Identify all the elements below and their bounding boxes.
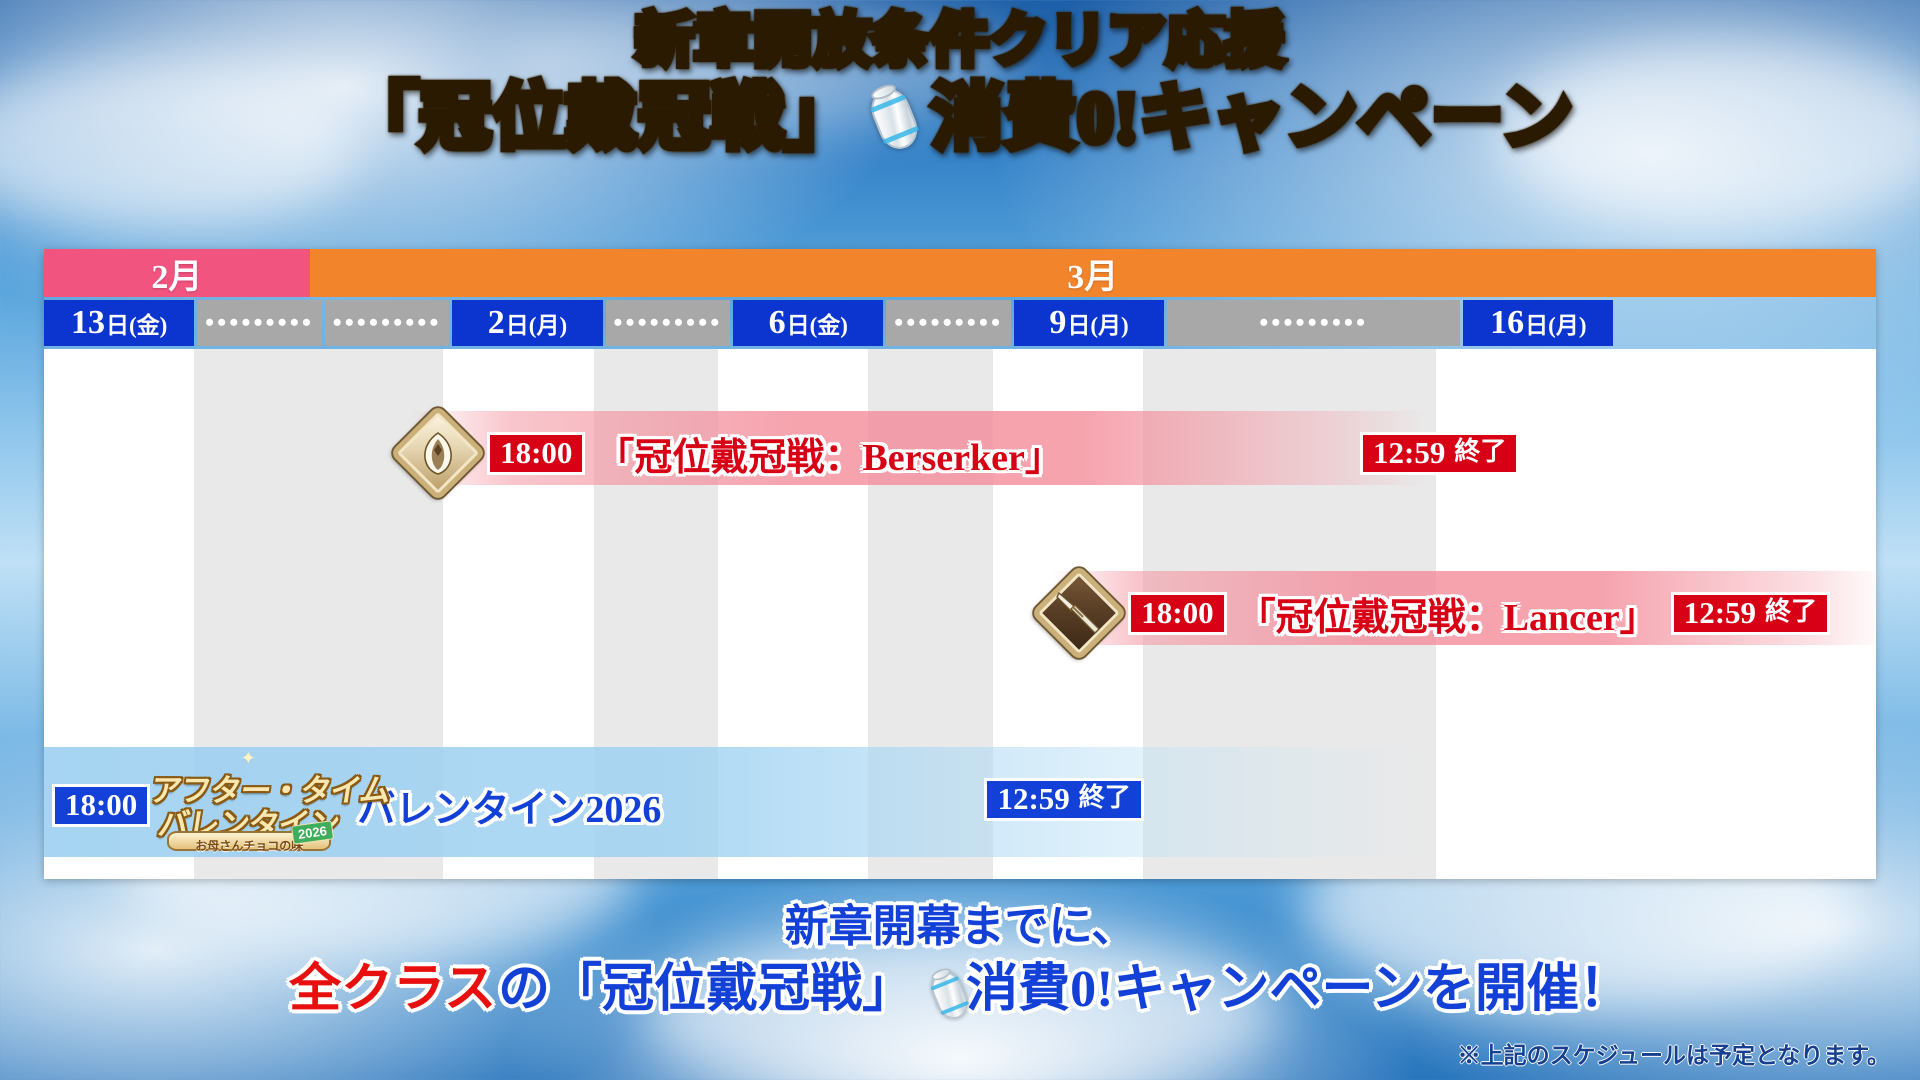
month-header-mar: 3月: [310, 249, 1876, 297]
lancer-class-emblem: [1033, 563, 1125, 663]
date-header-spacer: •••••••••: [886, 300, 1011, 346]
end-time-value: 12:59: [1373, 437, 1445, 468]
lancer-event-title: 「冠位戴冠戦：Lancer」: [1238, 586, 1658, 641]
title-line-1: 新章開放条件クリア応援: [635, 8, 1284, 74]
berserker-class-emblem: [392, 403, 484, 503]
date-suffix: 日(月): [506, 306, 567, 340]
lancer-start-time-badge: 18:00: [1131, 595, 1223, 632]
date-header-mar-9[interactable]: 9日(月): [1014, 300, 1164, 346]
berserker-event-title: 「冠位戴冠戦：Berserker」: [596, 426, 1062, 481]
date-number: 16: [1490, 304, 1524, 342]
schedule-calendar: 2月 3月 13日(金) ••••••••• ••••••••• 2日(月) •…: [44, 249, 1876, 879]
date-suffix: 日(金): [787, 306, 848, 340]
month-header-row: 2月 3月: [44, 249, 1876, 297]
date-number: 6: [769, 304, 786, 342]
valentine-logo: ✦ アフター・タイム バレンタイン お母さんチョコの味 2026: [151, 751, 347, 859]
end-time-label: 終了: [1765, 599, 1817, 625]
end-time-label: 終了: [1079, 785, 1131, 811]
title-line-2-part-b: 消費0!キャンペーン: [931, 76, 1573, 160]
date-header-spacer: •••••••••: [1167, 300, 1460, 346]
footer-highlight: 全クラス: [289, 958, 496, 1022]
date-suffix: 日(金): [106, 306, 167, 340]
end-time-value: 12:59: [1684, 597, 1756, 628]
title-line-2-part-a: 「冠位戴冠戦」: [346, 76, 857, 160]
month-header-feb: 2月: [44, 249, 310, 297]
event-end-valentine[interactable]: 12:59 終了: [987, 753, 1140, 845]
calendar-body: 18:00 「冠位戴冠戦：Berserker」 12:59 終了: [44, 349, 1876, 879]
date-header-row: 13日(金) ••••••••• ••••••••• 2日(月) •••••••…: [44, 300, 1876, 346]
date-number: 2: [488, 304, 505, 342]
date-header-mar-6[interactable]: 6日(金): [733, 300, 883, 346]
event-end-berserker[interactable]: 12:59 終了: [1363, 407, 1516, 499]
footer-line-2-part-b: の「冠位戴冠戦」: [498, 958, 914, 1022]
footer-message: 新章開幕までに、 全クラス の「冠位戴冠戦」 消費0!キャンペーンを開催！: [0, 900, 1920, 1022]
end-time-value: 12:59: [997, 783, 1069, 814]
event-row-berserker[interactable]: 18:00 「冠位戴冠戦：Berserker」: [392, 407, 1063, 499]
date-header-13[interactable]: 13日(金): [44, 300, 194, 346]
berserker-end-time-badge: 12:59 終了: [1363, 435, 1516, 472]
date-header-spacer: •••••••••: [325, 300, 450, 346]
footer-line-2-part-c: 消費0!キャンペーンを開催！: [966, 958, 1631, 1022]
date-suffix: 日(月): [1525, 306, 1586, 340]
date-number: 13: [71, 304, 105, 342]
apple-item-icon: [852, 73, 936, 163]
date-suffix: 日(月): [1067, 306, 1128, 340]
date-number: 9: [1049, 304, 1066, 342]
event-row-lancer[interactable]: 18:00 「冠位戴冠戦：Lancer」 12:59 終了: [1033, 567, 1827, 659]
valentine-event-title: バレンタイン2026: [357, 778, 661, 833]
valentine-start-time-badge: 18:00: [55, 787, 147, 824]
apple-item-icon: [917, 965, 964, 1015]
lancer-end-time-badge: 12:59 終了: [1674, 595, 1827, 632]
date-header-mar-2[interactable]: 2日(月): [452, 300, 602, 346]
event-row-valentine[interactable]: 18:00 ✦ アフター・タイム バレンタイン お母さんチョコの味 2026 バ…: [55, 753, 661, 857]
footnote: ※上記のスケジュールは予定となります。: [1458, 1036, 1890, 1070]
valentine-end-time-badge: 12:59 終了: [987, 781, 1140, 818]
date-header-spacer: •••••••••: [197, 300, 322, 346]
banner-title: 新章開放条件クリア応援 「冠位戴冠戦」 消費0!キャンペーン: [0, 8, 1920, 160]
date-header-mar-16[interactable]: 16日(月): [1463, 300, 1613, 346]
end-time-label: 終了: [1454, 439, 1506, 465]
date-header-spacer: •••••••••: [606, 300, 731, 346]
berserker-start-time-badge: 18:00: [490, 435, 582, 472]
footer-line-1: 新章開幕までに、: [0, 900, 1920, 954]
